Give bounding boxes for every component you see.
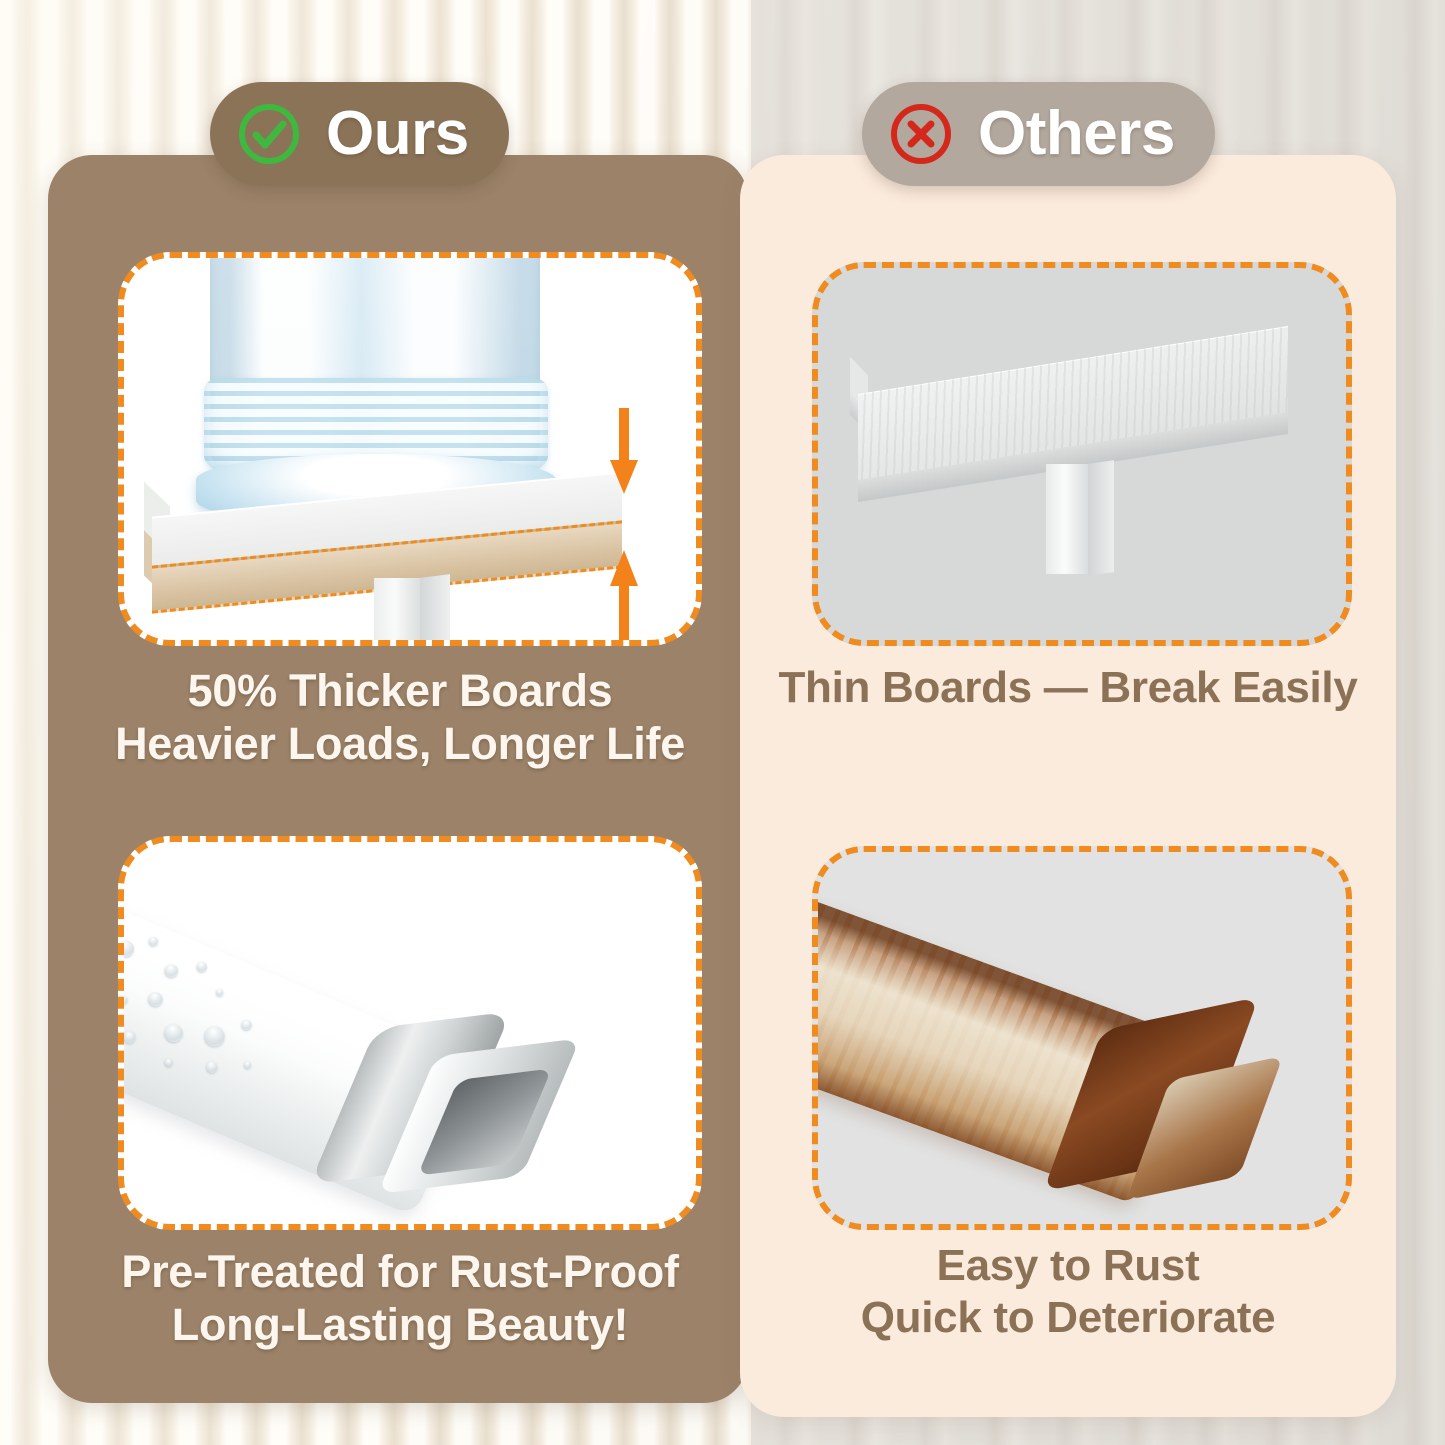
- ours-feature-1-image: [118, 252, 702, 646]
- ours-feature-1-caption: 50% Thicker Boards Heavier Loads, Longer…: [70, 664, 730, 770]
- thin-board-leg-side: [1088, 460, 1114, 576]
- others-feature-2-image: [812, 846, 1352, 1230]
- arrow-up-icon: [610, 550, 638, 640]
- others-badge-label: Others: [978, 103, 1175, 165]
- ours-badge-label: Ours: [326, 103, 469, 165]
- shelf-leg-side: [420, 574, 450, 640]
- caption-line: Pre-Treated for Rust-Proof: [70, 1245, 730, 1298]
- caption-line: Long-Lasting Beauty!: [70, 1298, 730, 1351]
- check-circle-icon: [236, 101, 302, 167]
- caption-line: Quick to Deteriorate: [762, 1292, 1374, 1344]
- arrow-down-icon: [610, 408, 638, 494]
- thin-board-leg: [1046, 464, 1088, 574]
- others-feature-1-image: [812, 262, 1352, 646]
- ours-feature-2-caption: Pre-Treated for Rust-Proof Long-Lasting …: [70, 1245, 730, 1351]
- others-feature-2-art: [818, 852, 1346, 1224]
- ours-feature-1-art: [124, 258, 696, 640]
- caption-line: Heavier Loads, Longer Life: [70, 717, 730, 770]
- ours-feature-2-image: [118, 836, 702, 1230]
- ours-badge: Ours: [210, 82, 509, 186]
- others-feature-2-caption: Easy to Rust Quick to Deteriorate: [762, 1240, 1374, 1344]
- others-badge: Others: [862, 82, 1215, 186]
- ours-feature-2-art: [124, 842, 696, 1224]
- caption-line: Easy to Rust: [762, 1240, 1374, 1292]
- others-feature-1-caption: Thin Boards — Break Easily: [762, 662, 1374, 714]
- shelf-leg: [374, 578, 420, 640]
- others-feature-1-art: [818, 268, 1346, 640]
- caption-line: Thin Boards — Break Easily: [762, 662, 1374, 714]
- cross-circle-icon: [888, 101, 954, 167]
- caption-line: 50% Thicker Boards: [70, 664, 730, 717]
